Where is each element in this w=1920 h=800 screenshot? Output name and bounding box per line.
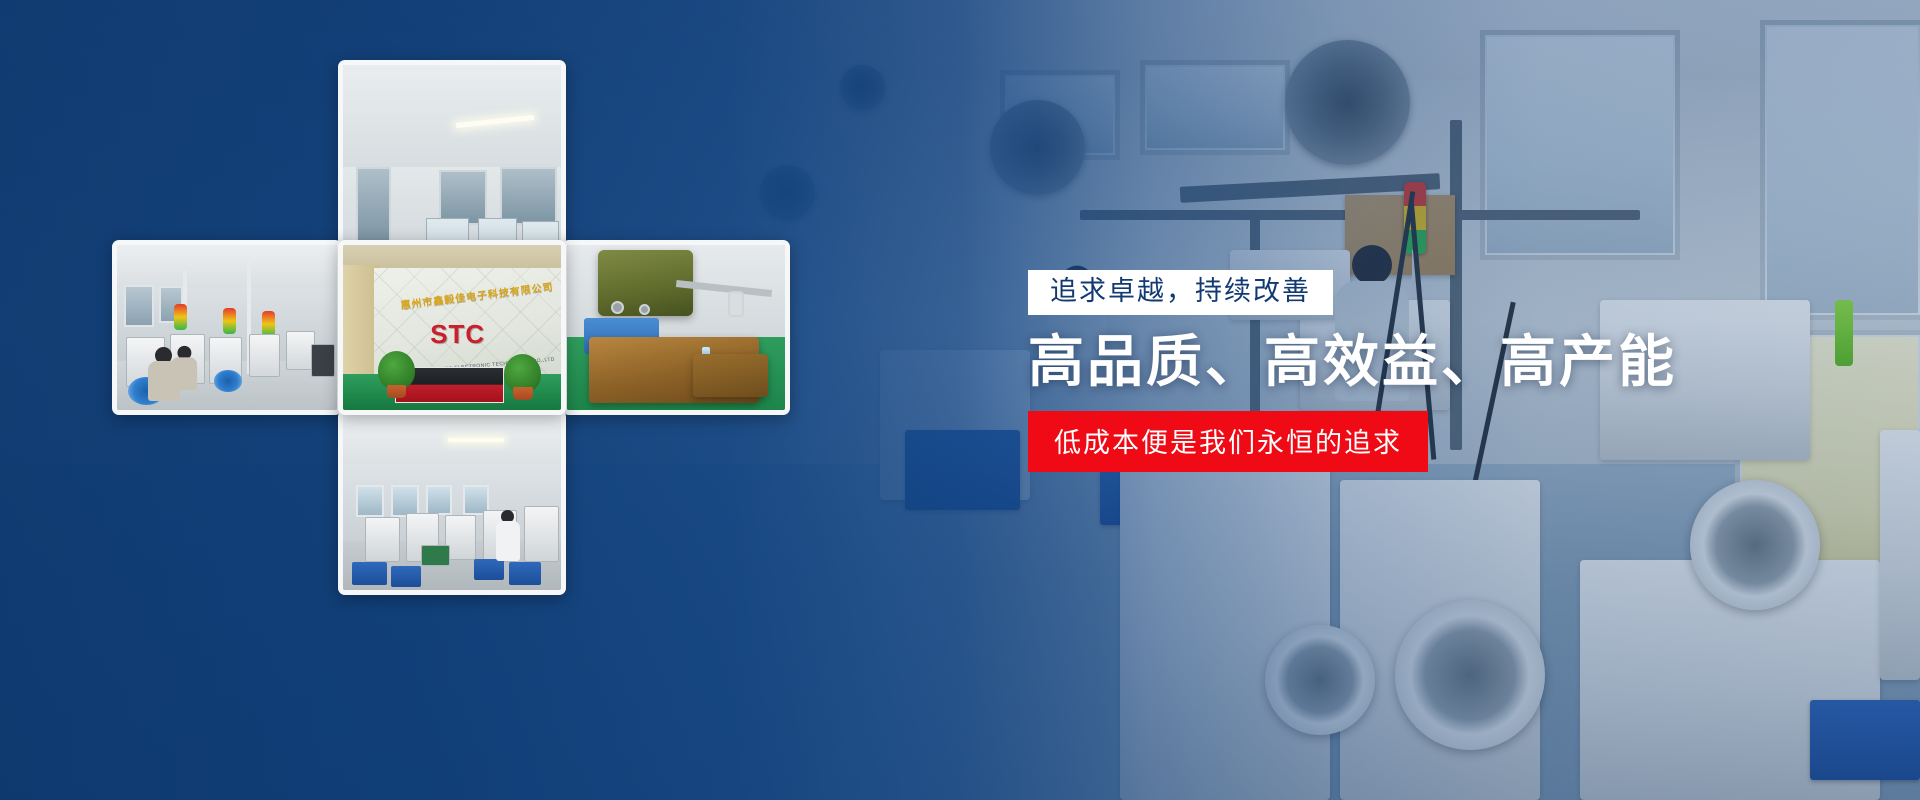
tagline-badge: 追求卓越，持续改善: [1028, 270, 1333, 315]
hero-banner: 惠州市鑫毅佳电子科技有限公司 STC HUIZHOU XINYIJIA ELEC…: [0, 0, 1920, 800]
collage-photo-center-stc[interactable]: 惠州市鑫毅佳电子科技有限公司 STC HUIZHOU XINYIJIA ELEC…: [338, 240, 566, 415]
subline-text: 低成本便是我们永恒的追求: [1054, 421, 1402, 460]
headline-text: 高品质、高效益、高产能: [1028, 329, 1677, 395]
collage-photo-right[interactable]: [562, 240, 790, 415]
banner-text-block: 追求卓越，持续改善 高品质、高效益、高产能 低成本便是我们永恒的追求: [1028, 270, 1677, 472]
subline-badge: 低成本便是我们永恒的追求: [1028, 411, 1428, 472]
collage-photo-bottom[interactable]: [338, 410, 566, 595]
tagline-text: 追求卓越，持续改善: [1050, 276, 1311, 307]
collage-photo-left[interactable]: [112, 240, 342, 415]
stc-logo: STC: [430, 319, 485, 350]
